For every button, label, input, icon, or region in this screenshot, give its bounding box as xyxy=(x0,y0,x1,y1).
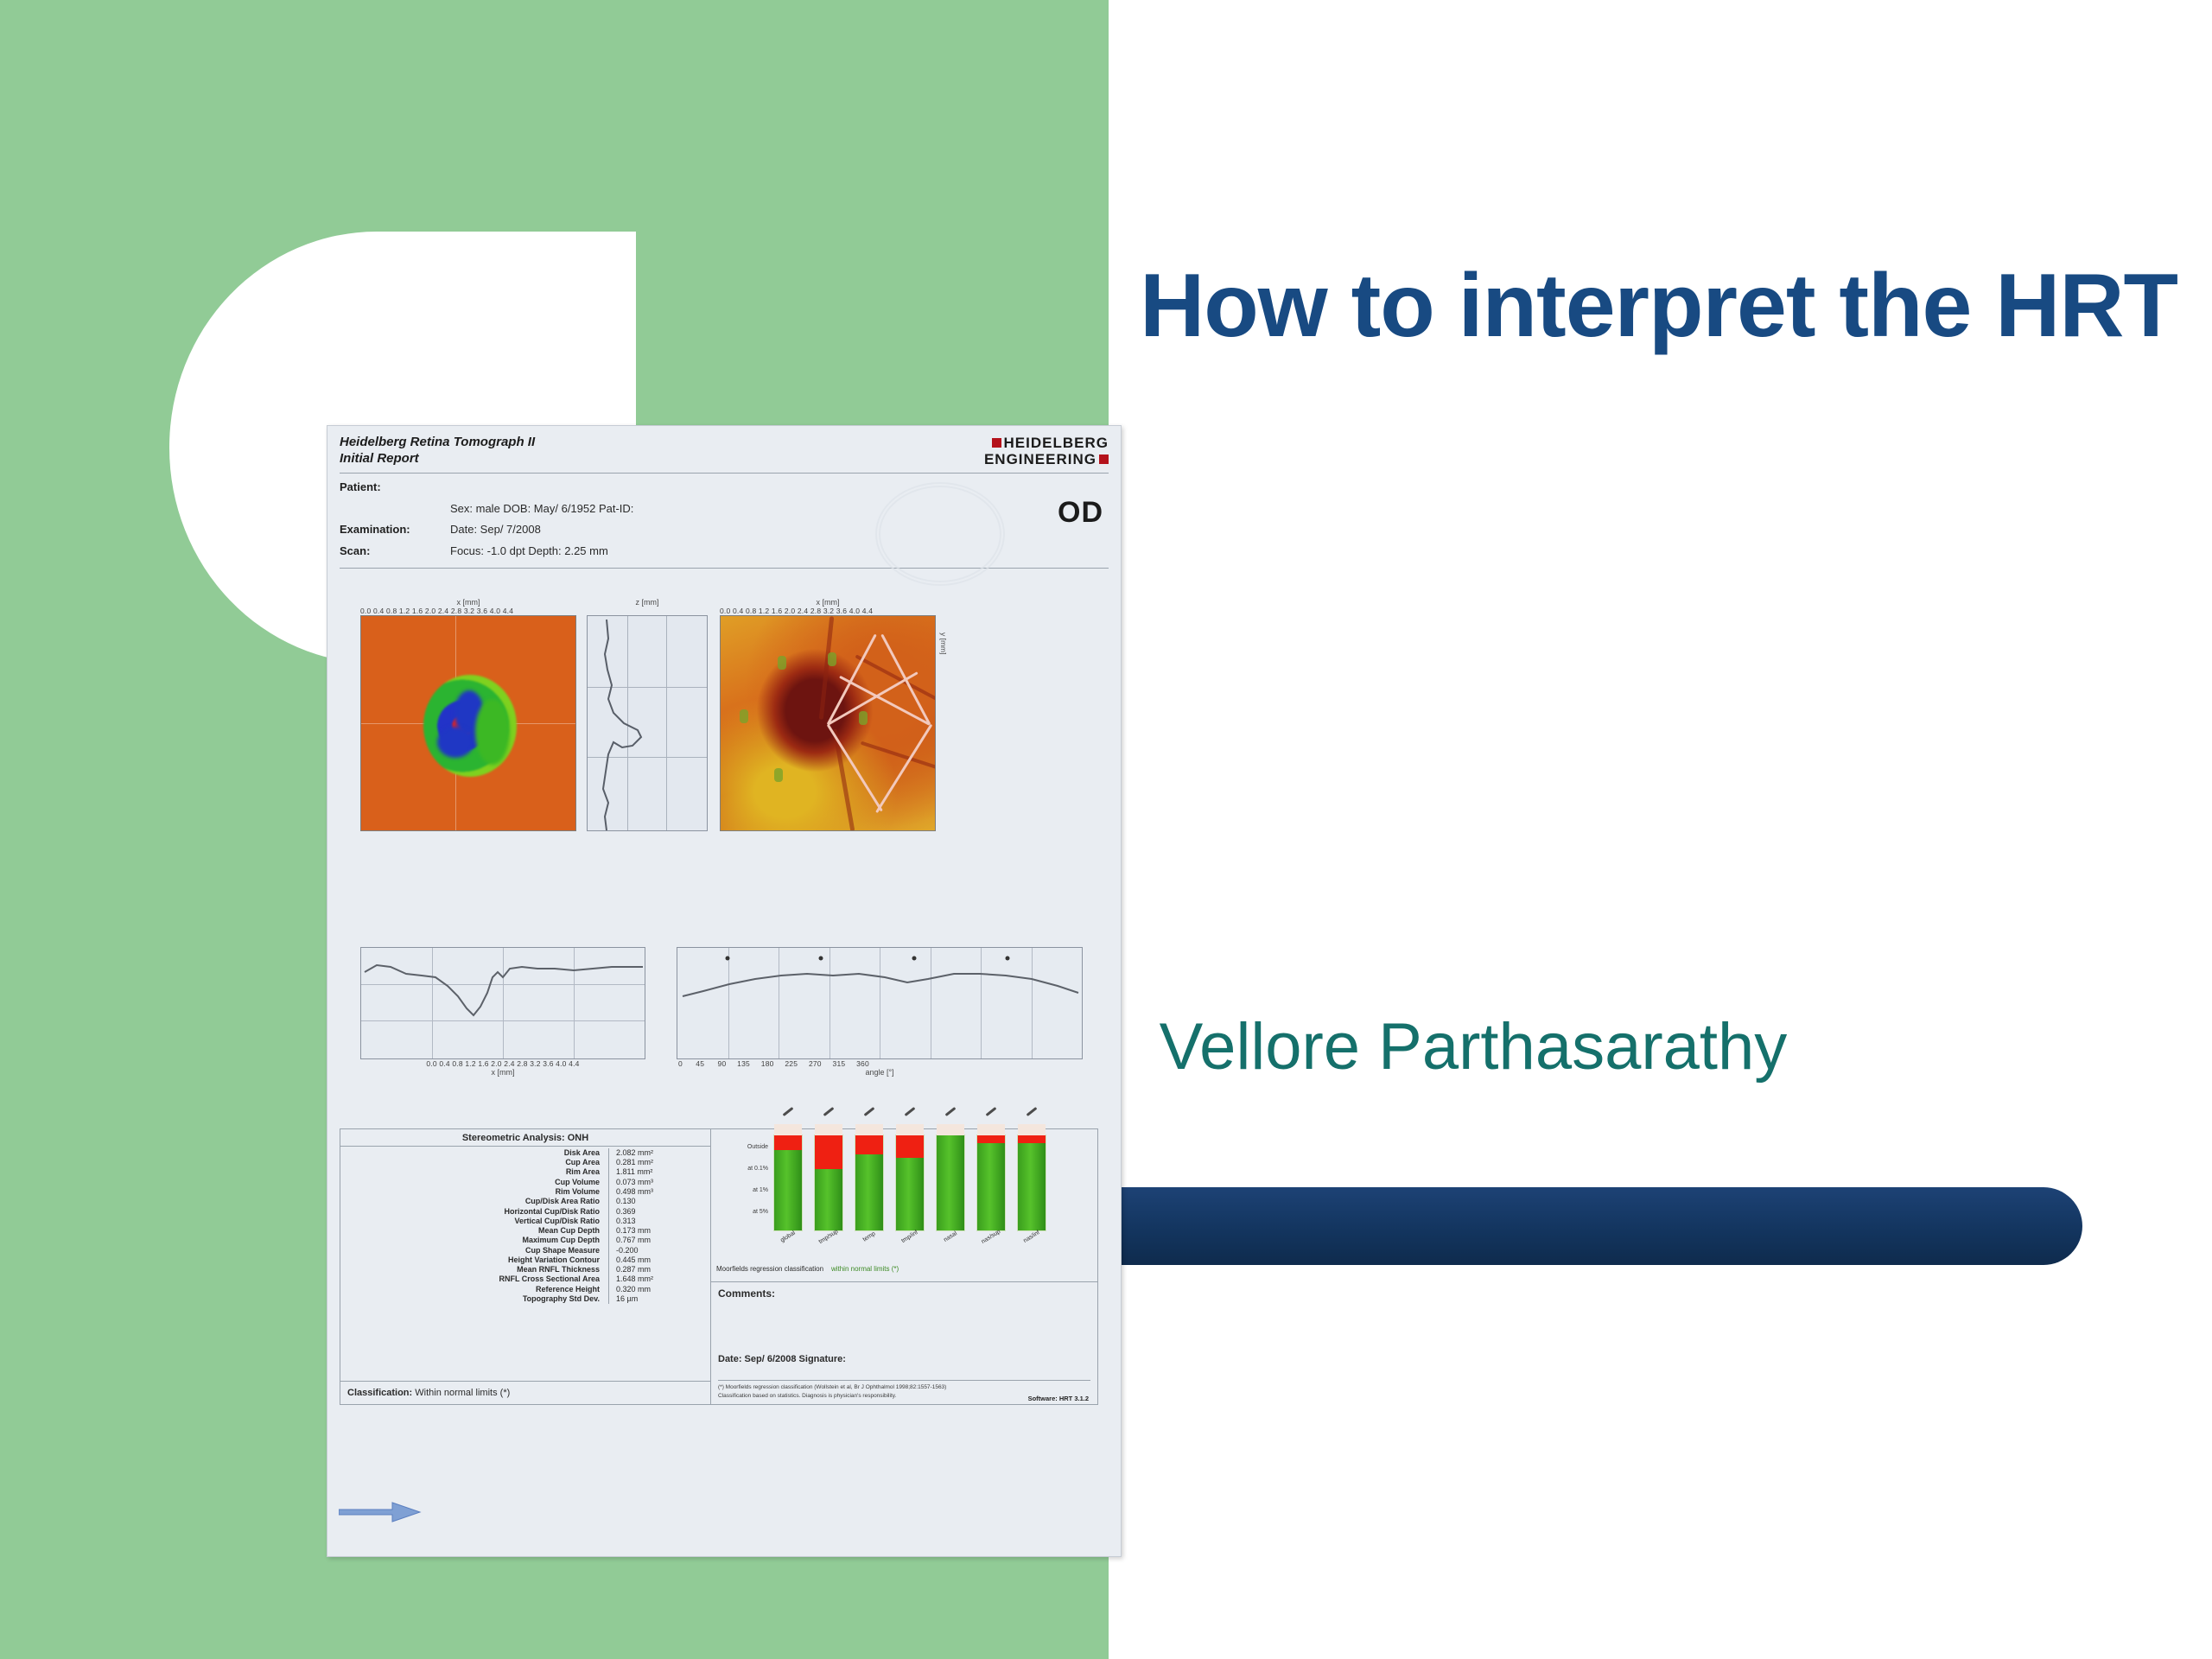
lower-graph-row: 0.0 0.4 0.8 1.2 1.6 2.0 2.4 2.8 3.2 3.6 … xyxy=(340,947,1109,1120)
sector-bar-temp: temp xyxy=(855,1135,884,1240)
table-row: Maximum Cup Depth0.767 mm xyxy=(340,1236,705,1245)
meta-value: Focus: -1.0 dpt Depth: 2.25 mm xyxy=(450,541,608,563)
angle-ticks: 0 45 90 135 180 225 270 315 360 xyxy=(677,1059,1083,1068)
meta-value: Date: Sep/ 7/2008 xyxy=(450,519,541,541)
hrt-report-sheet: Heidelberg Retina Tomograph II Initial R… xyxy=(327,425,1122,1557)
topography-map-panel: x [mm] 0.0 0.4 0.8 1.2 1.6 2.0 2.4 2.8 3… xyxy=(360,598,576,831)
refl-x-axis-label: x [mm] xyxy=(720,598,936,607)
table-row: Rim Area1.811 mm² xyxy=(340,1167,705,1177)
navy-accent-bar xyxy=(1110,1187,2082,1265)
classification-label: Classification: xyxy=(347,1388,412,1398)
bottom-section: Stereometric Analysis: ONH Disk Area2.08… xyxy=(340,1128,1109,1405)
y-tick-01: at 0.1% xyxy=(715,1158,768,1179)
table-row: Cup/Disk Area Ratio0.130 xyxy=(340,1197,705,1206)
moorfields-class-label: Moorfields regression classification xyxy=(716,1265,823,1273)
meta-label: Examination: xyxy=(340,519,450,541)
vertical-height-profile-graph xyxy=(587,615,708,831)
heidelberg-logo: HEIDELBERG ENGINEERING xyxy=(984,435,1109,467)
table-row: Mean RNFL Thickness0.287 mm xyxy=(340,1265,705,1274)
logo-line2: ENGINEERING xyxy=(984,451,1096,467)
eye-marker: OD xyxy=(1058,496,1103,530)
logo-square-icon xyxy=(992,438,1001,448)
table-row: Reference Height0.320 mm xyxy=(340,1285,705,1294)
slide-canvas: How to interpret the HRT Vellore Parthas… xyxy=(0,0,2212,1659)
table-row: Cup Shape Measure-0.200 xyxy=(340,1246,705,1255)
table-row: Rim Volume0.498 mm³ xyxy=(340,1187,705,1197)
moorfields-chart: Outside at 0.1% at 1% at 5% global xyxy=(711,1129,1097,1274)
table-row: Cup Volume0.073 mm³ xyxy=(340,1178,705,1187)
map-panels: x [mm] 0.0 0.4 0.8 1.2 1.6 2.0 2.4 2.8 3… xyxy=(340,574,1109,945)
report-title-line2: Initial Report xyxy=(340,451,535,467)
y-tick-1: at 1% xyxy=(715,1179,768,1201)
sector-bar-tmpsup: tmp/sup xyxy=(814,1135,843,1240)
vertical-profile-panel: z [mm] . xyxy=(587,598,708,831)
topography-image xyxy=(360,615,576,831)
meta-label xyxy=(340,499,450,520)
report-header: Heidelberg Retina Tomograph II Initial R… xyxy=(340,435,1109,467)
table-row: Vertical Cup/Disk Ratio0.313 xyxy=(340,1217,705,1226)
classification-row: Classification: Within normal limits (*) xyxy=(340,1381,710,1404)
topo-x-axis-label: x [mm] xyxy=(360,598,576,607)
moorfields-y-axis: Outside at 0.1% at 1% at 5% xyxy=(715,1136,768,1223)
report-title: Heidelberg Retina Tomograph II Initial R… xyxy=(340,435,535,467)
y-tick-5: at 5% xyxy=(715,1201,768,1223)
sector-bar-nassup: nas/sup xyxy=(976,1135,1006,1240)
profile-z-axis-label: z [mm] xyxy=(587,598,708,607)
contour-x-axis-label: x [mm] xyxy=(360,1068,645,1077)
meta-divider xyxy=(340,568,1109,569)
logo-square-icon-2 xyxy=(1099,454,1109,464)
rnfl-angle-profile-panel: 0 45 90 135 180 225 270 315 360 angle [°… xyxy=(677,947,1083,1077)
classification-value: Within normal limits (*) xyxy=(415,1388,510,1398)
watermark-ring xyxy=(875,482,1005,586)
logo-line1: HEIDELBERG xyxy=(1004,435,1109,451)
meta-value: Sex: male DOB: May/ 6/1952 Pat-ID: xyxy=(450,499,633,520)
page-title: How to interpret the HRT xyxy=(812,259,2177,353)
angle-axis-label: angle [°] xyxy=(677,1068,1083,1077)
table-row: Cup Area0.281 mm² xyxy=(340,1158,705,1167)
header-divider xyxy=(340,473,1109,474)
contour-height-graph xyxy=(360,947,645,1059)
comments-label: Comments: xyxy=(718,1287,1090,1300)
refl-x-ticks: 0.0 0.4 0.8 1.2 1.6 2.0 2.4 2.8 3.2 3.6 … xyxy=(720,607,936,615)
signature-line: Date: Sep/ 6/2008 Signature: xyxy=(718,1354,846,1364)
moorfields-bars: global tmp/sup temp xyxy=(773,1135,1046,1240)
topo-x-ticks: 0.0 0.4 0.8 1.2 1.6 2.0 2.4 2.8 3.2 3.6 … xyxy=(360,607,576,615)
table-row: RNFL Cross Sectional Area1.648 mm² xyxy=(340,1274,705,1284)
table-row: Topography Std Dev.16 µm xyxy=(340,1294,705,1304)
reflectance-image xyxy=(720,615,936,831)
sector-bar-tmpinf: tmp/inf xyxy=(895,1135,925,1240)
sector-bar-global: global xyxy=(773,1135,803,1240)
rnfl-angle-graph xyxy=(677,947,1083,1059)
footnote-line1: (*) Moorfields regression classification… xyxy=(718,1383,1090,1392)
refl-y-axis-label: y [mm] xyxy=(939,632,948,655)
stereometric-heading: Stereometric Analysis: ONH xyxy=(340,1129,710,1147)
comments-section: Comments: Date: Sep/ 6/2008 Signature: (… xyxy=(711,1281,1097,1404)
sector-bar-nasal: nasal xyxy=(936,1135,965,1240)
pointer-arrow-icon xyxy=(339,1501,422,1523)
meta-label: Scan: xyxy=(340,541,450,563)
report-metadata: OD Patient: Sex: male DOB: May/ 6/1952 P… xyxy=(340,477,1109,563)
report-title-line1: Heidelberg Retina Tomograph II xyxy=(340,435,535,451)
table-row: Disk Area2.082 mm² xyxy=(340,1148,705,1158)
table-row: Horizontal Cup/Disk Ratio0.369 xyxy=(340,1207,705,1217)
contour-height-profile-panel: 0.0 0.4 0.8 1.2 1.6 2.0 2.4 2.8 3.2 3.6 … xyxy=(360,947,645,1077)
meta-label: Patient: xyxy=(340,477,450,499)
contour-x-ticks: 0.0 0.4 0.8 1.2 1.6 2.0 2.4 2.8 3.2 3.6 … xyxy=(360,1059,645,1068)
table-row: Height Variation Contour0.445 mm xyxy=(340,1255,705,1265)
meta-row-patient: Patient: xyxy=(340,477,1109,499)
stereometric-rows: Disk Area2.082 mm² Cup Area0.281 mm² Rim… xyxy=(340,1147,710,1305)
stereometric-analysis-table: Stereometric Analysis: ONH Disk Area2.08… xyxy=(340,1128,711,1405)
moorfields-classification: Moorfields regression classification wit… xyxy=(716,1265,899,1273)
software-version: Software: HRT 3.1.2 xyxy=(1028,1395,1089,1402)
y-tick-outside: Outside xyxy=(715,1136,768,1158)
reflectance-image-panel: x [mm] 0.0 0.4 0.8 1.2 1.6 2.0 2.4 2.8 3… xyxy=(720,598,936,831)
moorfields-and-comments: Outside at 0.1% at 1% at 5% global xyxy=(711,1128,1098,1405)
moorfields-class-value: within normal limits (*) xyxy=(831,1265,899,1273)
sector-bar-nasinf: nas/inf xyxy=(1017,1135,1046,1240)
table-row: Mean Cup Depth0.173 mm xyxy=(340,1226,705,1236)
